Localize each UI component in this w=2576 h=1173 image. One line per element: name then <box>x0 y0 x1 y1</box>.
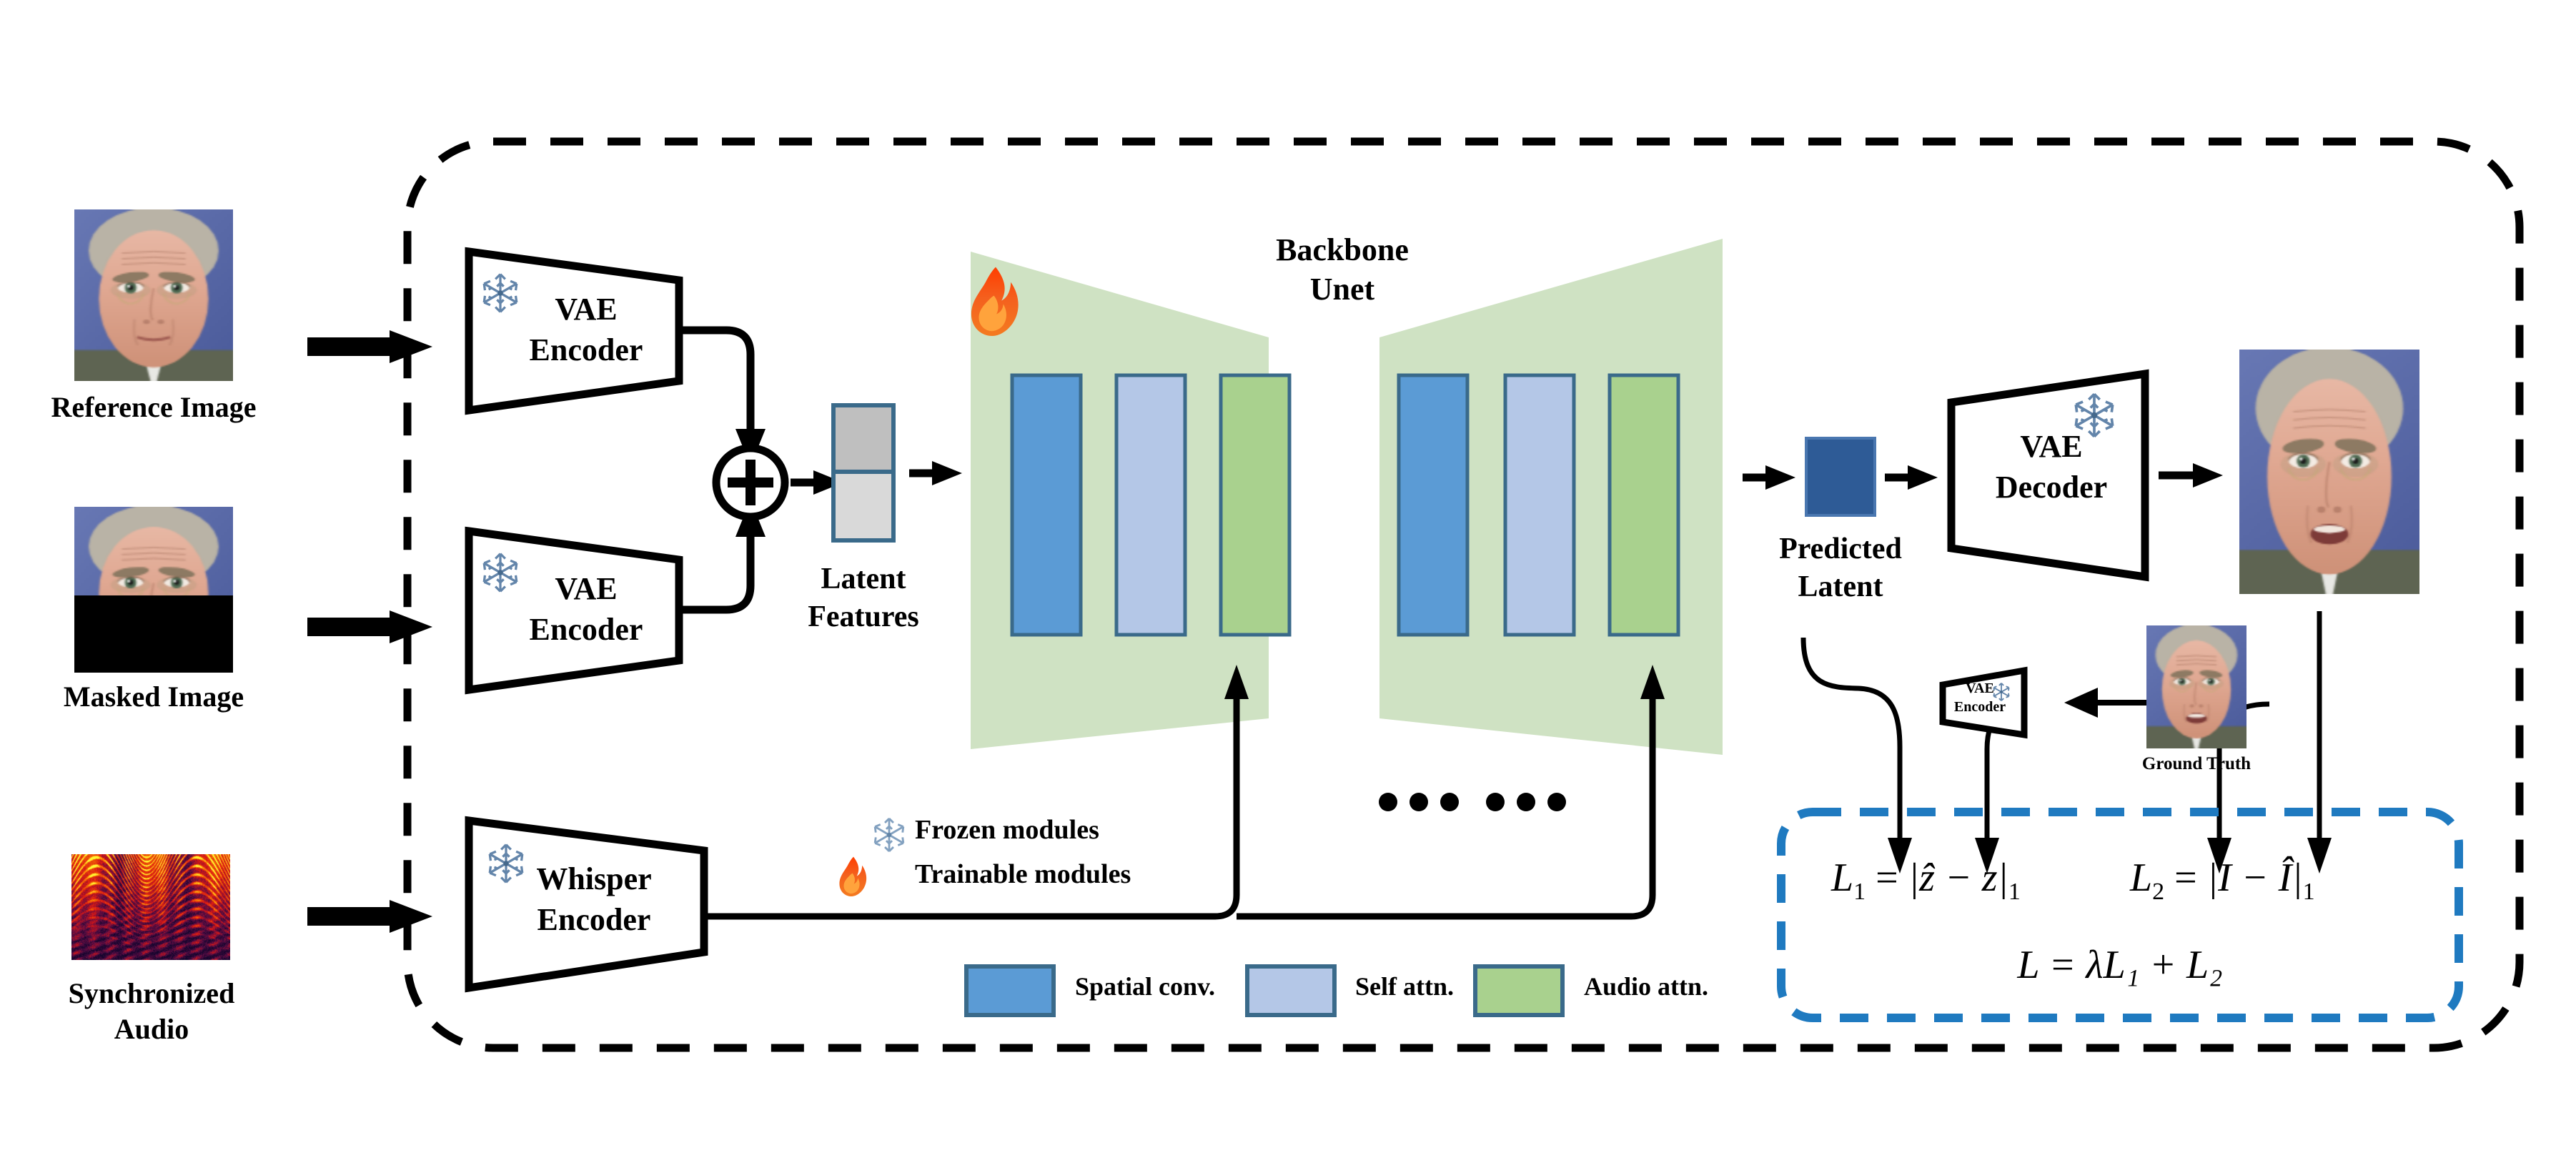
backbone-unet-label-line1: Backbone <box>1192 232 1492 267</box>
loss-l2-lhs-sub: 2 <box>2152 878 2164 905</box>
loss-l1-lhs: L <box>1831 856 1853 900</box>
arrow-predicted-latent-to-L1 <box>1803 638 1912 873</box>
sum-operator[interactable] <box>716 448 785 517</box>
arrow-latent-to-unet <box>909 461 962 485</box>
vae-encoder-top-label-line2: Encoder <box>489 332 683 367</box>
unet-block-spatial-conv-left[interactable] <box>1012 375 1081 635</box>
reference-image-thumbnail <box>74 209 233 381</box>
unet-block-spatial-conv-right[interactable] <box>1399 375 1467 635</box>
input-arrow-reference <box>307 330 432 363</box>
legend-spatial-conv-label: Spatial conv. <box>1075 972 1289 1001</box>
audio-label-line1: Synchronized <box>7 978 296 1010</box>
vae-decoder-label-line1: VAE <box>1973 429 2130 464</box>
vae-decoder-label-line2: Decoder <box>1960 470 2143 505</box>
loss-l1-rhs-sub: 1 <box>2008 878 2021 905</box>
unet-block-self-attn-left[interactable] <box>1116 375 1185 635</box>
latent-features-label-line2: Features <box>756 600 971 634</box>
loss-total-formula: L = λL₁ + L₂ <box>1781 942 2459 988</box>
latent-features-label-line1: Latent <box>756 563 971 596</box>
legend-audio-attn-label: Audio attn. <box>1584 972 1798 1001</box>
legend-swatch-spatial-conv <box>966 966 1054 1015</box>
legend-frozen-modules-label: Frozen modules <box>915 815 1215 846</box>
arrow-output-to-L2 <box>2307 611 2332 873</box>
output-image-thumbnail <box>2239 350 2419 594</box>
unet-block-self-attn-right[interactable] <box>1505 375 1574 635</box>
loss-l2-formula: L2 = |I − Î|1 <box>2130 855 2315 906</box>
reference-image-label: Reference Image <box>17 392 290 424</box>
audio-label-line2: Audio <box>7 1014 296 1046</box>
loss-l2-lhs: L <box>2130 856 2152 900</box>
arrow-latent-to-decoder <box>1885 465 1938 490</box>
loss-l2-rhs: |I − Î| <box>2207 856 2303 900</box>
whisper-encoder-label-line1: Whisper <box>505 861 683 896</box>
latent-features-shape[interactable] <box>833 405 893 540</box>
predicted-latent-label-line1: Predicted <box>1730 533 1951 566</box>
vae-encoder-top-label-line1: VAE <box>500 292 672 327</box>
input-arrow-masked <box>307 610 432 643</box>
ellipsis-dots <box>1379 793 1566 811</box>
vae-encoder-gt-label-line2: Encoder <box>1940 699 2020 715</box>
ground-truth-thumbnail <box>2146 625 2246 748</box>
arrow-unet-to-predicted-latent <box>1743 465 1795 490</box>
loss-l1-lhs-sub: 1 <box>1853 878 1866 905</box>
ground-truth-label: Ground Truth <box>2111 754 2282 774</box>
vae-encoder-bottom-label-line1: VAE <box>500 571 672 606</box>
loss-l1-formula: L1 = |ẑ − z|1 <box>1831 855 2021 906</box>
predicted-latent-shape[interactable] <box>1806 438 1875 515</box>
arrow-decoder-to-output <box>2159 463 2223 487</box>
mouth-mask-overlay <box>74 595 233 673</box>
loss-total-text: L = λL₁ + L₂ <box>2017 943 2222 987</box>
arrow-groundtruth-to-encoder <box>2064 688 2146 718</box>
unet-block-audio-attn-left[interactable] <box>1221 375 1289 635</box>
masked-image-label: Masked Image <box>17 681 290 713</box>
predicted-latent-label-line2: Latent <box>1730 570 1951 604</box>
vae-encoder-gt-label-line1: VAE <box>1944 680 2016 696</box>
loss-l2-rhs-sub: 1 <box>2303 878 2315 905</box>
snowflake-icon <box>875 818 903 851</box>
legend-self-attn-label: Self attn. <box>1355 972 1541 1001</box>
loss-l1-rhs: |ẑ − z| <box>1908 856 2008 900</box>
whisper-encoder-label-line2: Encoder <box>497 902 690 937</box>
vae-encoder-bottom-label-line2: Encoder <box>489 612 683 647</box>
unet-block-audio-attn-right[interactable] <box>1610 375 1678 635</box>
backbone-unet-label-line2: Unet <box>1192 272 1492 307</box>
audio-spectrogram-thumbnail <box>71 854 230 960</box>
flame-icon <box>839 857 866 896</box>
legend-trainable-modules-label: Trainable modules <box>915 859 1244 890</box>
input-arrow-audio <box>307 900 432 933</box>
